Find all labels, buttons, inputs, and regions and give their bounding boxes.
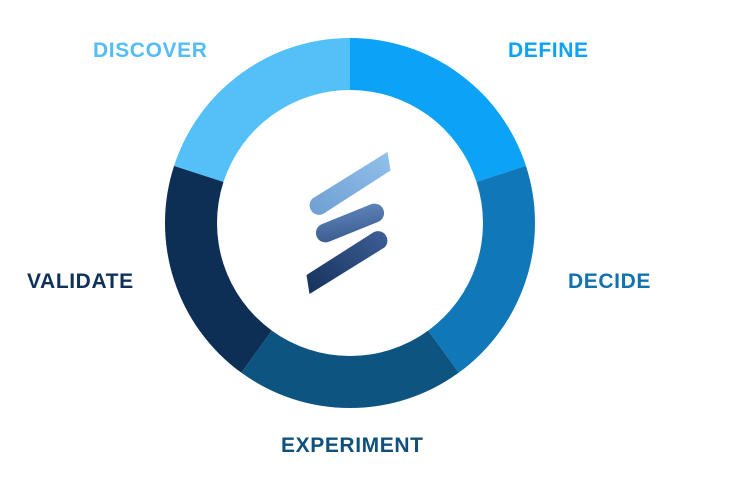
logo-bottom-bar (307, 231, 388, 294)
three-slanted-bars-logo (307, 152, 391, 294)
stage-label-decide: DECIDE (568, 271, 651, 292)
donut-segment-decide[interactable] (428, 166, 535, 373)
innovation-process-diagram: DISCOVER DEFINE DECIDE EXPERIMENT VALIDA… (0, 0, 750, 484)
stage-label-validate: VALIDATE (27, 271, 134, 292)
donut-segment-experiment[interactable] (241, 331, 458, 408)
donut-chart (0, 0, 750, 484)
stage-label-define: DEFINE (508, 40, 589, 61)
stage-label-experiment: EXPERIMENT (281, 435, 424, 456)
donut-segment-validate[interactable] (165, 166, 272, 373)
stage-label-discover: DISCOVER (93, 40, 208, 61)
